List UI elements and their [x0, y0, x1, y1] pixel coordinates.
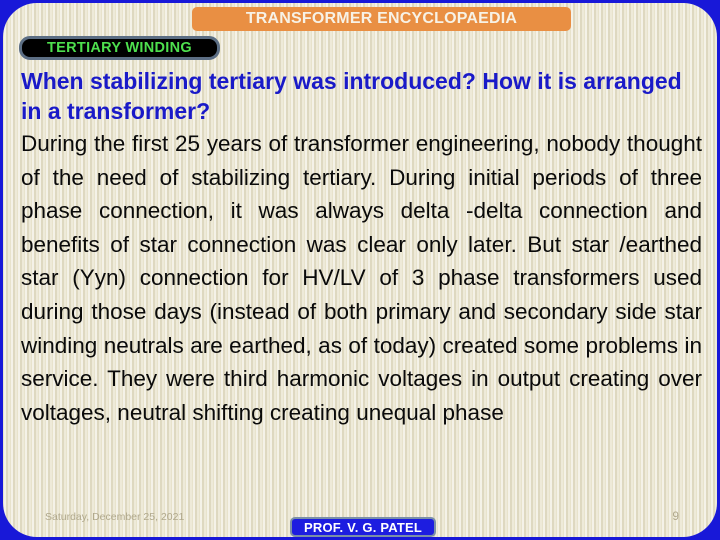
presenter-badge: PROF. V. G. PATEL	[290, 517, 436, 537]
slide-body-text: During the first 25 years of transformer…	[21, 127, 702, 429]
slide-title: When stabilizing tertiary was introduced…	[21, 66, 702, 126]
slide-page-number: 9	[672, 509, 679, 523]
slide-content: When stabilizing tertiary was introduced…	[21, 66, 702, 429]
section-badge-label: TERTIARY WINDING	[47, 40, 192, 56]
section-badge-tertiary-winding: TERTIARY WINDING	[19, 36, 220, 60]
slide-page: TRANSFORMER ENCYCLOPAEDIA TERTIARY WINDI…	[3, 3, 717, 537]
presenter-name-label: PROF. V. G. PATEL	[304, 520, 422, 535]
encyclopaedia-header-badge: TRANSFORMER ENCYCLOPAEDIA	[192, 7, 571, 31]
slide-frame: TRANSFORMER ENCYCLOPAEDIA TERTIARY WINDI…	[0, 0, 720, 540]
encyclopaedia-header-label: TRANSFORMER ENCYCLOPAEDIA	[246, 10, 517, 28]
footer-date: Saturday, December 25, 2021	[45, 511, 184, 523]
